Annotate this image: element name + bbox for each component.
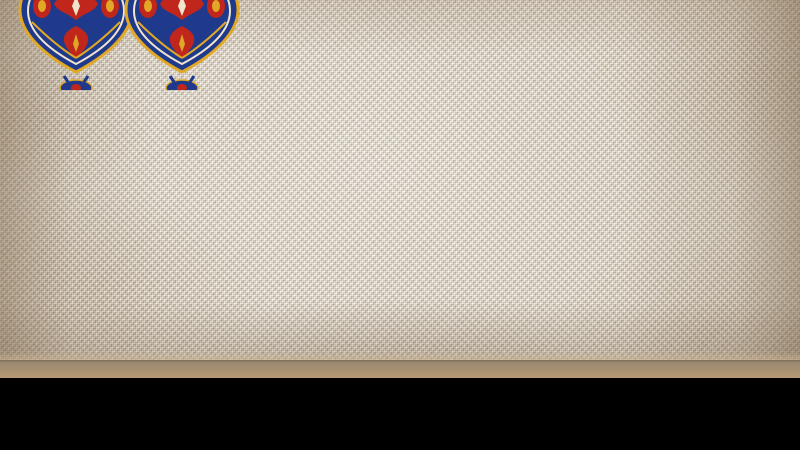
persian-medallion-motif: [18, 0, 134, 90]
carpet-hem-edge: [0, 352, 800, 378]
carpet-canvas-background: [0, 0, 800, 376]
persian-medallion-motif: [124, 0, 240, 90]
presentation-slide: [0, 0, 800, 450]
